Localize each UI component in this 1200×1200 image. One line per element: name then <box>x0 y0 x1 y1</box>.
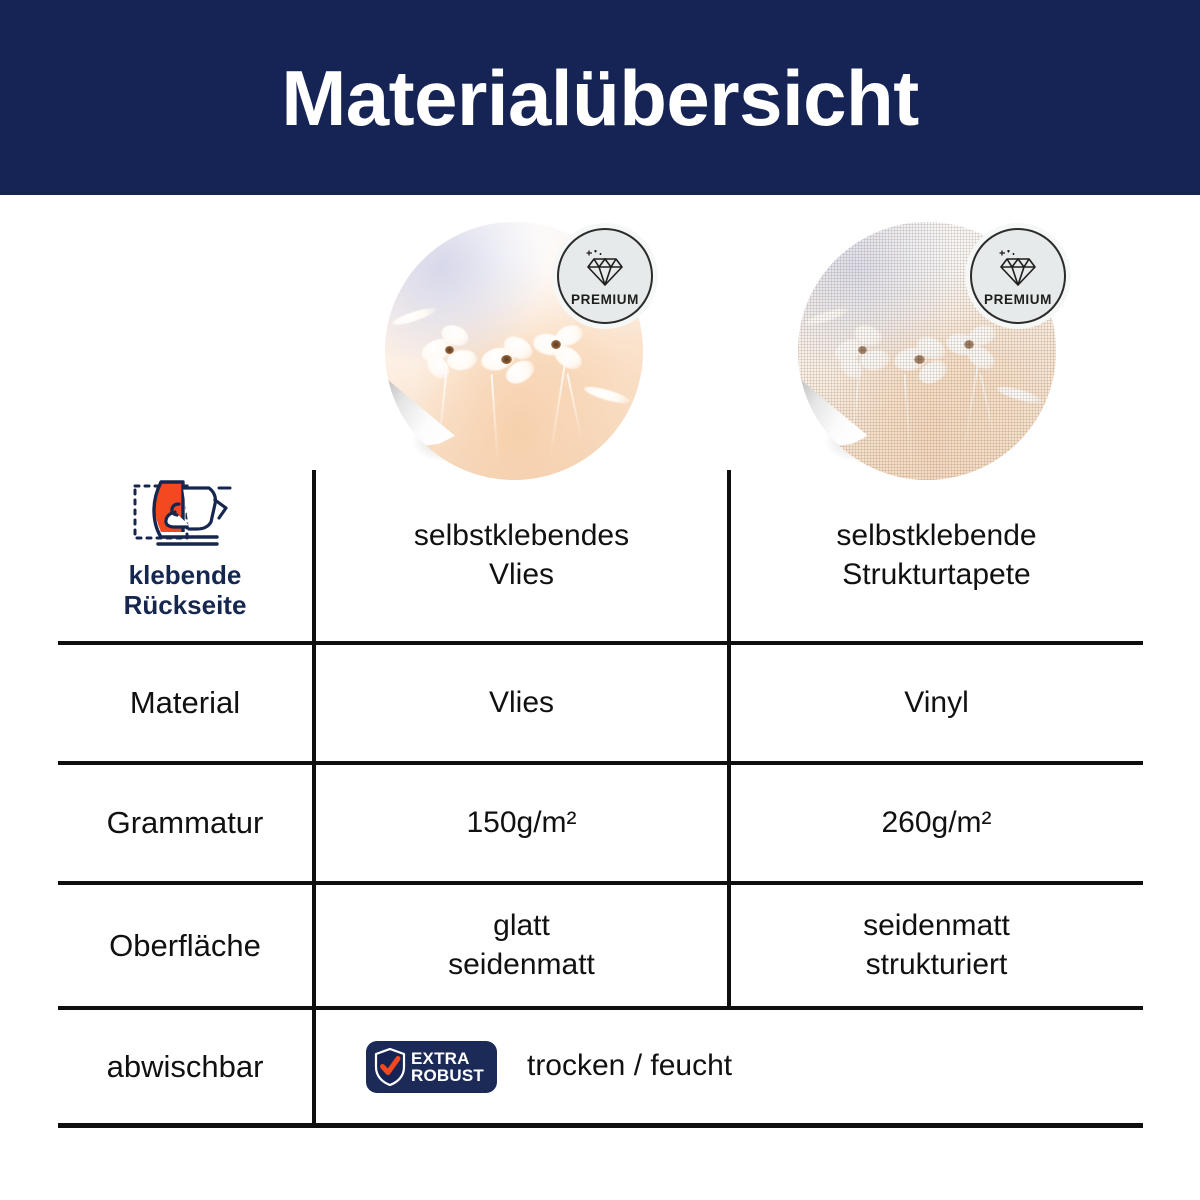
table-label-oberflaeche: Oberfläche <box>58 885 312 1006</box>
adhesive-backing-caption: klebende Rückseite <box>124 560 247 620</box>
adhesive-backing-line1: klebende <box>124 560 247 590</box>
premium-badge: PREMIUM <box>557 228 653 324</box>
table-row-backing: klebende Rückseite selbstklebendes Vlies… <box>58 470 1143 645</box>
table-label-abwischbar: abwischbar <box>58 1010 312 1123</box>
stem <box>549 363 566 458</box>
oberflaeche-2-line2: strukturiert <box>866 946 1008 984</box>
extra-robust-line1: EXTRA <box>411 1050 484 1067</box>
sample-images: PREMIUM <box>0 222 1200 480</box>
premium-badge: PREMIUM <box>970 228 1066 324</box>
flower-core <box>501 355 512 364</box>
table-label-grammatur: Grammatur <box>58 765 312 881</box>
table-cell-product-2: selbstklebende Strukturtapete <box>727 470 1142 641</box>
extra-robust-badge: EXTRA ROBUST <box>366 1041 497 1093</box>
table-row-material: Material Vlies Vinyl <box>58 645 1143 765</box>
product-1-line2: Vlies <box>489 556 554 594</box>
table-label-material: Material <box>58 645 312 761</box>
product-1-line1: selbstklebendes <box>414 517 629 555</box>
flower-core <box>445 346 454 354</box>
sample-image-vlies: PREMIUM <box>385 222 643 480</box>
abwischbar-value: trocken / feucht <box>527 1047 732 1085</box>
material-comparison-table: klebende Rückseite selbstklebendes Vlies… <box>58 470 1143 1132</box>
petal <box>391 305 438 328</box>
product-2-line1: selbstklebende <box>836 517 1036 555</box>
adhesive-backing-line2: Rückseite <box>124 590 247 620</box>
table-cell-oberflaeche-2: seidenmatt strukturiert <box>727 885 1142 1006</box>
extra-robust-line2: ROBUST <box>411 1067 484 1084</box>
table-cell-product-1: selbstklebendes Vlies <box>312 470 727 641</box>
flower-core <box>551 340 561 349</box>
adhesive-backing-cell: klebende Rückseite <box>58 470 312 641</box>
stem <box>491 374 499 466</box>
premium-label: PREMIUM <box>984 292 1052 307</box>
premium-label: PREMIUM <box>571 292 639 307</box>
diamond-icon <box>996 250 1040 290</box>
oberflaeche-1-line1: glatt <box>493 907 550 945</box>
extra-robust-text: EXTRA ROBUST <box>411 1050 484 1084</box>
product-2-line2: Strukturtapete <box>842 556 1030 594</box>
table-cell-abwischbar-value: EXTRA ROBUST trocken / feucht <box>312 1010 1143 1123</box>
table-cell-oberflaeche-1: glatt seidenmatt <box>312 885 727 1006</box>
page-title: Materialübersicht <box>281 59 918 137</box>
shield-check-icon <box>374 1048 406 1086</box>
diamond-icon <box>583 250 627 290</box>
table-cell-grammatur-2: 260g/m² <box>727 765 1142 881</box>
table-row-oberflaeche: Oberfläche glatt seidenmatt seidenmatt s… <box>58 885 1143 1010</box>
sample-image-strukturtapete: PREMIUM <box>798 222 1056 480</box>
table-cell-grammatur-1: 150g/m² <box>312 765 727 881</box>
stem <box>566 373 583 442</box>
table-row-abwischbar: abwischbar EXTRA ROBUST trocken / feucht <box>58 1010 1143 1128</box>
table-cell-material-2: Vinyl <box>727 645 1142 761</box>
oberflaeche-2-line1: seidenmatt <box>863 907 1010 945</box>
header-banner: Materialübersicht <box>0 0 1200 195</box>
table-cell-material-1: Vlies <box>312 645 727 761</box>
table-row-grammatur: Grammatur 150g/m² 260g/m² <box>58 765 1143 885</box>
peel-adhesive-icon <box>131 474 239 554</box>
petal <box>583 384 632 407</box>
oberflaeche-1-line2: seidenmatt <box>448 946 595 984</box>
